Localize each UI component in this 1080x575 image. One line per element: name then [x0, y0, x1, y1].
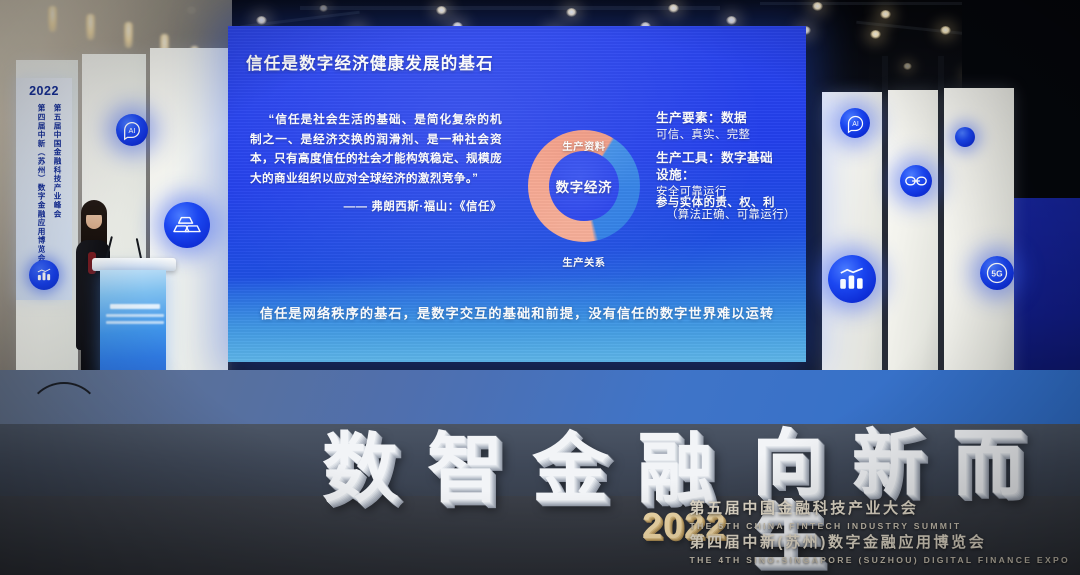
conference-line1-en: THE 5TH CHINA FINTECH INDUSTRY SUMMIT — [690, 519, 1070, 533]
donut-top-label: 生产资料 — [528, 138, 640, 153]
ceiling-spotlight — [319, 5, 328, 12]
wall-light — [86, 14, 95, 40]
ceiling-spotlight — [903, 63, 912, 70]
svg-text:AI: AI — [852, 121, 859, 128]
banner-line-1: 第五届中国金融科技产业峰会 — [51, 104, 64, 218]
slide-quote-source: —— 弗朗西斯·福山：《信任》 — [250, 198, 502, 218]
podium-logo — [110, 304, 160, 309]
chart-bar-icon — [29, 260, 59, 290]
slide-quote-text: “信任是社会生活的基础、是简化复杂的机制之一、是经济交换的润滑剂、是一种社会资本… — [250, 110, 502, 188]
donut-bottom-label: 生产关系 — [528, 254, 640, 269]
wall-light — [124, 22, 133, 48]
dot-icon — [955, 127, 975, 147]
speaker-hair-front — [84, 206, 104, 215]
banner-year: 2022 — [16, 84, 72, 98]
ceiling-spotlight — [870, 30, 881, 39]
stage-panel-right-2 — [888, 90, 938, 392]
ceiling-spotlight — [566, 8, 577, 17]
conference-line2-en: THE 4TH SINO-SINGAPORE (SUZHOU) DIGITAL … — [690, 553, 1070, 567]
ceiling-spotlight — [812, 2, 823, 11]
gold-bars-icon — [164, 202, 210, 248]
conference-title-block: 第五届中国金融科技产业大会 THE 5TH CHINA FINTECH INDU… — [690, 499, 1070, 567]
ceiling-spotlight — [436, 6, 447, 15]
slide-right-note: 参与实体的责、权、利 — [656, 194, 775, 210]
ai-icon: AI — [840, 108, 870, 138]
ceiling-spotlight — [256, 16, 267, 25]
slide-surface: 信任是数字经济健康发展的基石 “信任是社会生活的基础、是简化复杂的机制之一、是经… — [228, 26, 806, 362]
right-item-head-2b: 设施： — [656, 167, 804, 184]
conference-line2-cn: 第四届中新(苏州)数字金融应用博览会 — [690, 533, 1070, 553]
right-item-head-2: 生产工具：数字基础 — [656, 150, 804, 167]
5g-icon: 5G — [980, 256, 1014, 290]
slide-title: 信任是数字经济健康发展的基石 — [246, 50, 494, 74]
chart-bar-icon — [828, 255, 876, 303]
floor-cable — [26, 382, 102, 456]
donut-center-label: 数字经济 — [528, 176, 640, 196]
stage-letters-left: 数 智 金 融 — [322, 432, 717, 508]
led-screen: 信任是数字经济健康发展的基石 “信任是社会生活的基础、是简化复杂的机制之一、是经… — [228, 26, 806, 362]
ceiling-spotlight — [940, 26, 951, 35]
slide-bottom-banner-text: 信任是网络秩序的基石，是数字交互的基础和前提，没有信任的数字世界难以运转 — [228, 303, 806, 322]
slide-quote-block: “信任是社会生活的基础、是简化复杂的机制之一、是经济交换的润滑剂、是一种社会资本… — [250, 110, 502, 218]
stage-deck — [0, 370, 1080, 426]
conference-stage-photo: AI 2022 第五届中国金融科技产业峰会 第四届中新（苏州）数字金融应用博览会 — [0, 0, 1080, 575]
podium-text-line — [106, 314, 164, 317]
podium-text-line — [106, 321, 164, 324]
right-item-head-1: 生产要素：数据 — [656, 110, 804, 127]
ceiling-spotlight — [880, 10, 891, 19]
svg-text:AI: AI — [129, 126, 136, 135]
right-item-sub-1: 可信、真实、完整 — [656, 127, 804, 143]
conference-line1-cn: 第五届中国金融科技产业大会 — [690, 499, 1070, 519]
wall-light — [48, 6, 57, 32]
ai-icon: AI — [116, 114, 148, 146]
banner-line-2: 第四届中新（苏州）数字金融应用博览会 — [35, 104, 48, 262]
blockchain-link-icon — [900, 165, 932, 197]
slide-right-column: 生产要素：数据 可信、真实、完整 生产工具：数字基础 设施： 安全可靠运行 （算… — [656, 110, 804, 230]
svg-text:5G: 5G — [991, 269, 1002, 279]
ceiling-truss — [300, 6, 720, 10]
vertical-banner: 2022 第五届中国金融科技产业峰会 第四届中新（苏州）数字金融应用博览会 — [16, 78, 72, 300]
ceiling-spotlight — [668, 4, 679, 13]
ceiling-spotlight — [726, 16, 737, 25]
podium-front-panel — [100, 270, 166, 382]
